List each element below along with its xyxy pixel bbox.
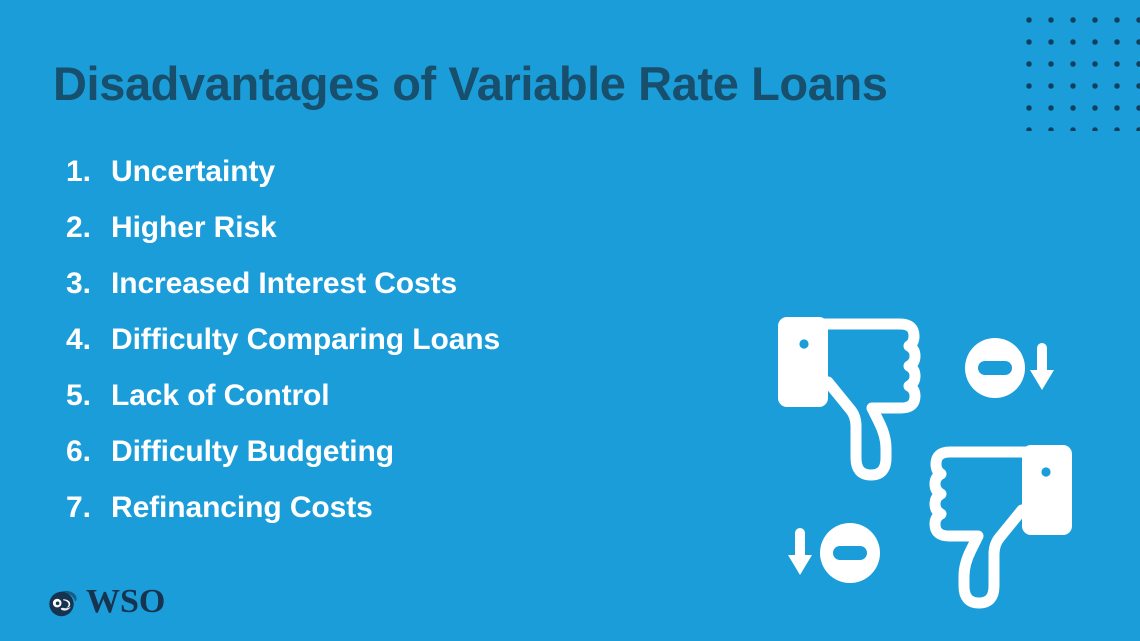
list-item: 3. Increased Interest Costs xyxy=(66,267,686,323)
list-item: 6. Difficulty Budgeting xyxy=(66,435,686,491)
list-item: 4. Difficulty Comparing Loans xyxy=(66,323,686,379)
down-arrow-lower xyxy=(788,528,812,575)
list-item-number: 2. xyxy=(66,211,111,245)
down-arrow-upper xyxy=(1030,343,1054,390)
list-item-number: 7. xyxy=(66,491,111,525)
list-item-label: Refinancing Costs xyxy=(111,491,373,525)
thumbs-down-hand-upper xyxy=(778,317,915,475)
minus-circle-lower xyxy=(820,523,880,583)
list-item-label: Difficulty Comparing Loans xyxy=(111,323,500,357)
list-item: 2. Higher Risk xyxy=(66,211,686,267)
thumbs-down-hand-lower xyxy=(935,445,1072,603)
slide-canvas: Disadvantages of Variable Rate Loans 1. … xyxy=(0,0,1140,641)
list-item-label: Difficulty Budgeting xyxy=(111,435,394,469)
list-item: 5. Lack of Control xyxy=(66,379,686,435)
wso-globe-icon xyxy=(46,585,80,619)
list-item-label: Higher Risk xyxy=(111,211,277,245)
list-item-label: Uncertainty xyxy=(111,155,275,189)
list-item-number: 5. xyxy=(66,379,111,413)
list-item-number: 3. xyxy=(66,267,111,301)
disadvantages-list: 1. Uncertainty 2. Higher Risk 3. Increas… xyxy=(66,155,686,547)
list-item-number: 1. xyxy=(66,155,111,189)
dot-grid-pattern xyxy=(1014,5,1140,131)
thumbs-down-illustration xyxy=(760,300,1090,610)
wso-wordmark: WSO xyxy=(86,585,165,619)
list-item-number: 4. xyxy=(66,323,111,357)
list-item-label: Increased Interest Costs xyxy=(111,267,457,301)
list-item: 1. Uncertainty xyxy=(66,155,686,211)
list-item: 7. Refinancing Costs xyxy=(66,491,686,547)
list-item-number: 6. xyxy=(66,435,111,469)
list-item-label: Lack of Control xyxy=(111,379,330,413)
page-title: Disadvantages of Variable Rate Loans xyxy=(53,57,888,111)
minus-circle-upper xyxy=(965,338,1025,398)
wso-logo[interactable]: WSO xyxy=(46,585,165,619)
